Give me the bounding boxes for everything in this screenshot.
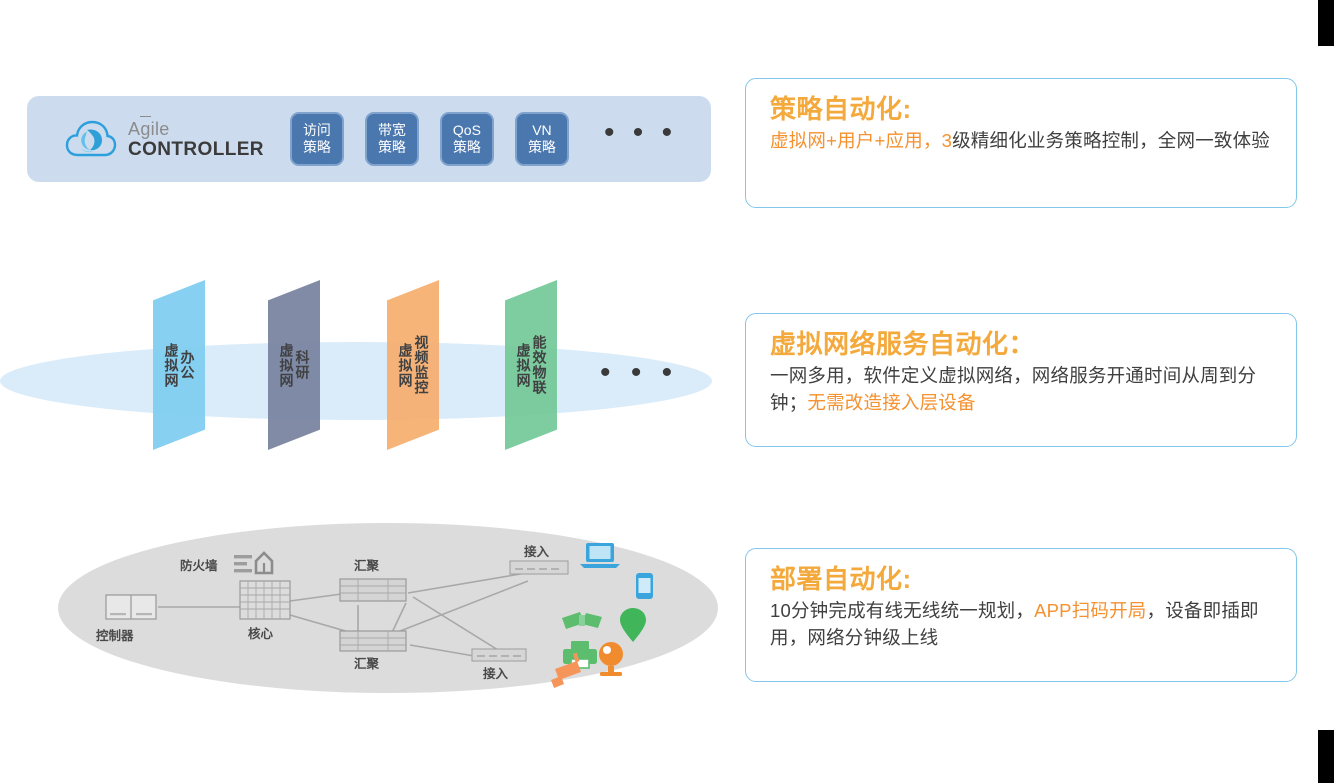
topology-label-access-top: 接入 — [524, 541, 549, 560]
vn-slab-label: 能效物联 虚拟网 — [505, 280, 557, 450]
firewall-icon — [234, 553, 272, 573]
smartphone-icon — [636, 573, 653, 599]
callout-body-plain-1: 10分钟完成有线无线统一规划， — [770, 600, 1034, 621]
vn-label-col-left: 虚拟网 — [164, 343, 179, 388]
agile-controller-bar: Agile CONTROLLER 访问 策略 带宽 策略 QoS 策略 VN 策… — [27, 96, 711, 182]
agile-controller-logo: Agile CONTROLLER — [65, 117, 264, 161]
callout-body: 一网多用，软件定义虚拟网络，网络服务开通时间从周到分钟；无需改造接入层设备 — [770, 362, 1276, 416]
vn-label-col-right: 办公 — [180, 350, 195, 380]
topology-label-core: 核心 — [248, 623, 273, 642]
chip-line1: QoS — [453, 122, 481, 139]
chip-line1: 访问 — [303, 122, 331, 139]
callout-body-highlight: APP扫码开局 — [1034, 600, 1146, 621]
switch-icon-agg-bottom — [340, 631, 406, 651]
edge-bar-bottom — [1318, 730, 1334, 783]
callout-title: 策略自动化: — [770, 93, 1276, 125]
cloud-icon — [65, 117, 117, 161]
laptop-icon — [580, 543, 620, 568]
vn-slab-video-surveillance: 视频监控 虚拟网 — [387, 280, 439, 450]
vn-slab-energy-iot: 能效物联 虚拟网 — [505, 280, 557, 450]
callout-policy-automation: 策略自动化: 虚拟网+用户+应用，3级精细化业务策略控制，全网一致体验 — [745, 78, 1297, 208]
callout-body: 10分钟完成有线无线统一规划，APP扫码开局，设备即插即用，网络分钟级上线 — [770, 597, 1276, 651]
chip-line2: 策略 — [303, 139, 331, 156]
logo-agile-text: Agile — [128, 120, 264, 138]
topology-label-firewall: 防火墙 — [180, 555, 218, 574]
vn-label-col-right: 视频监控 — [414, 335, 429, 395]
location-pin-icon — [620, 608, 646, 642]
access-switch-icon-top — [510, 561, 568, 574]
topology-label-controller: 控制器 — [96, 625, 134, 644]
callout-body: 虚拟网+用户+应用，3级精细化业务策略控制，全网一致体验 — [770, 127, 1276, 154]
network-topology-diagram: 控制器 防火墙 核心 汇聚 汇聚 接入 接入 — [58, 523, 718, 693]
topology-label-agg-bottom: 汇聚 — [354, 653, 379, 672]
server-rack-icon — [106, 595, 156, 619]
vn-slab-label: 办公 虚拟网 — [153, 280, 205, 450]
virtual-network-diagram: 办公 虚拟网 科研 虚拟网 视频监控 虚拟网 能效物联 虚拟网 • • • — [0, 280, 715, 500]
access-switch-icon-bottom — [472, 649, 526, 661]
vn-label-col-right: 科研 — [295, 350, 310, 380]
vn-slab-research: 科研 虚拟网 — [268, 280, 320, 450]
vn-ellipsis: • • • — [600, 358, 678, 388]
callout-body-plain: 级精细化业务策略控制，全网一致体验 — [952, 130, 1270, 151]
sensor-icon — [562, 612, 602, 629]
policy-chip-vn[interactable]: VN 策略 — [515, 112, 569, 166]
policy-chip-group: 访问 策略 带宽 策略 QoS 策略 VN 策略 • • • — [290, 112, 677, 166]
webcam-icon — [599, 642, 623, 676]
logo-controller-text: CONTROLLER — [128, 140, 264, 159]
vn-label-col-left: 虚拟网 — [398, 343, 413, 388]
callout-deployment-automation: 部署自动化: 10分钟完成有线无线统一规划，APP扫码开局，设备即插即用，网络分… — [745, 548, 1297, 682]
callout-virtual-network-service-automation: 虚拟网络服务自动化： 一网多用，软件定义虚拟网络，网络服务开通时间从周到分钟；无… — [745, 313, 1297, 447]
policy-chips-ellipsis: • • • — [604, 118, 677, 160]
policy-chip-access[interactable]: 访问 策略 — [290, 112, 344, 166]
edge-bar-top — [1318, 0, 1334, 46]
vn-label-col-right: 能效物联 — [532, 335, 547, 395]
chip-line1: VN — [532, 122, 551, 139]
policy-chip-bandwidth[interactable]: 带宽 策略 — [365, 112, 419, 166]
chip-line2: 策略 — [528, 139, 556, 156]
vn-label-col-left: 虚拟网 — [516, 343, 531, 388]
vn-slab-label: 科研 虚拟网 — [268, 280, 320, 450]
policy-chip-qos[interactable]: QoS 策略 — [440, 112, 494, 166]
callout-body-highlight: 无需改造接入层设备 — [807, 392, 975, 413]
switch-icon-agg-top — [340, 579, 406, 601]
topology-graphics — [58, 523, 718, 693]
vn-slab-office: 办公 虚拟网 — [153, 280, 205, 450]
chip-line1: 带宽 — [378, 122, 406, 139]
vn-slab-label: 视频监控 虚拟网 — [387, 280, 439, 450]
topology-label-agg-top: 汇聚 — [354, 555, 379, 574]
chip-line2: 策略 — [453, 139, 481, 156]
vn-label-col-left: 虚拟网 — [279, 343, 294, 388]
callout-title: 虚拟网络服务自动化： — [770, 328, 1276, 360]
topology-label-access-bottom: 接入 — [483, 663, 508, 682]
core-switch-icon — [240, 581, 290, 619]
printer-icon — [563, 641, 597, 668]
callout-body-highlight: 虚拟网+用户+应用，3 — [770, 130, 952, 151]
chip-line2: 策略 — [378, 139, 406, 156]
callout-title: 部署自动化: — [770, 563, 1276, 595]
